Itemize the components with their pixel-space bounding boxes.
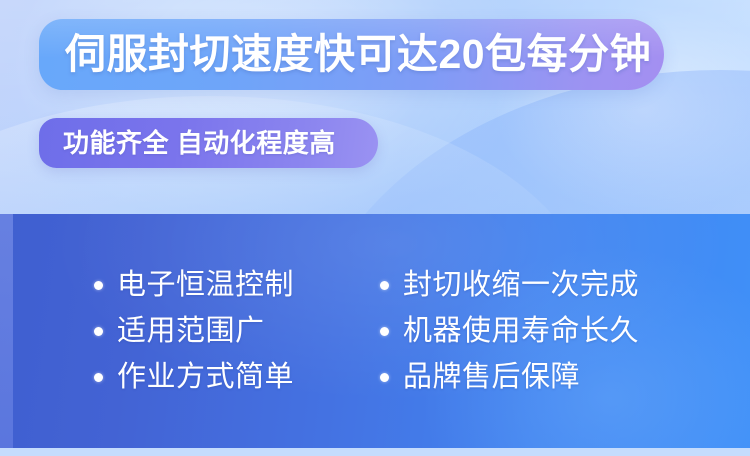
subtitle-pill: 功能齐全 自动化程度高 (39, 118, 378, 168)
bottom-strip (0, 448, 750, 456)
promo-banner: 伺服封切速度快可达20包每分钟 功能齐全 自动化程度高 电子恒温控制 封切收缩一… (0, 0, 750, 456)
feature-item: 品牌售后保障 (380, 354, 750, 400)
subtitle-text: 功能齐全 自动化程度高 (63, 130, 336, 156)
bullet-dot-icon (94, 281, 103, 290)
bullet-dot-icon (94, 373, 103, 382)
feature-label: 作业方式简单 (117, 363, 294, 392)
feature-label: 封切收缩一次完成 (403, 271, 639, 300)
feature-label: 品牌售后保障 (403, 363, 580, 392)
bullet-dot-icon (380, 373, 389, 382)
headline-text: 伺服封切速度快可达20包每分钟 (65, 34, 651, 75)
feature-item: 电子恒温控制 (94, 262, 380, 308)
feature-item: 封切收缩一次完成 (380, 262, 750, 308)
feature-label: 适用范围广 (117, 317, 265, 346)
headline-pill: 伺服封切速度快可达20包每分钟 (39, 19, 664, 90)
bullet-dot-icon (380, 327, 389, 336)
feature-label: 机器使用寿命长久 (403, 317, 639, 346)
feature-label: 电子恒温控制 (117, 271, 294, 300)
feature-item: 作业方式简单 (94, 354, 380, 400)
bullet-dot-icon (94, 327, 103, 336)
feature-panel: 电子恒温控制 封切收缩一次完成 适用范围广 机器使用寿命长久 作业方式简单 品牌… (0, 214, 750, 448)
feature-item: 机器使用寿命长久 (380, 308, 750, 354)
feature-item: 适用范围广 (94, 308, 380, 354)
bullet-dot-icon (380, 281, 389, 290)
feature-list: 电子恒温控制 封切收缩一次完成 适用范围广 机器使用寿命长久 作业方式简单 品牌… (0, 214, 750, 448)
